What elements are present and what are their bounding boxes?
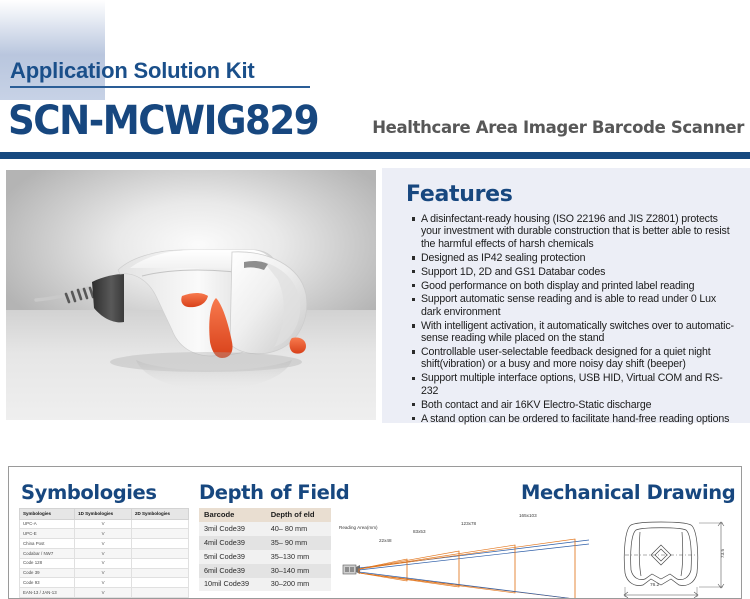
features-panel: Features A disinfectant-ready housing (I… <box>382 168 750 423</box>
barcode-depth: 35–130 mm <box>266 550 331 564</box>
product-image <box>6 170 376 420</box>
page-header: Application Solution Kit SCN-MCWIG829 He… <box>0 0 750 152</box>
symbologies-table: Symbologies 1D Symbologies 2D Symbologie… <box>19 508 189 599</box>
barcode-type: 10mil Code39 <box>199 578 266 592</box>
table-header-row: Symbologies 1D Symbologies 2D Symbologie… <box>20 509 189 520</box>
barcode-type: 4mil Code39 <box>199 536 266 550</box>
mechanical-drawing-figure: 76.2 73.5 <box>609 513 739 599</box>
reading-area-value: 22x48 <box>379 538 392 543</box>
symbology-name: EAN-13 / JAN-13 <box>20 588 75 598</box>
symbology-2d-mark <box>132 558 189 568</box>
table-row: Code 39 V <box>20 568 189 578</box>
table-row: UPC-E V <box>20 529 189 539</box>
symbology-1d-mark: V <box>75 588 132 598</box>
column-header: Depth of eld <box>266 508 331 522</box>
symbology-name: Code 39 <box>20 568 75 578</box>
product-model-title: SCN-MCWIG829 <box>8 98 318 144</box>
kicker-underline <box>10 86 310 88</box>
table-row: 3mil Code39 40– 80 mm <box>199 522 331 536</box>
column-header: 1D Symbologies <box>75 509 132 520</box>
mechanical-drawing-svg <box>609 513 739 599</box>
barcode-scanner-illustration <box>6 170 376 420</box>
barcode-depth: 30–200 mm <box>266 578 331 592</box>
barcode-depth: 30–140 mm <box>266 564 331 578</box>
feature-item: A disinfectant-ready housing (ISO 22196 … <box>412 213 738 250</box>
table-row: Code 128 V <box>20 558 189 568</box>
table-row: 4mil Code39 35– 90 mm <box>199 536 331 550</box>
scanner-origin-icon <box>343 565 360 574</box>
feature-item: A stand option can be ordered to facilit… <box>412 413 738 425</box>
symbology-1d-mark: V <box>75 548 132 558</box>
symbology-1d-mark: V <box>75 539 132 549</box>
barcode-type: 3mil Code39 <box>199 522 266 536</box>
barcode-type: 5mil Code39 <box>199 550 266 564</box>
symbology-1d-mark: V <box>75 529 132 539</box>
reading-area-value: 83x53 <box>413 529 426 534</box>
reading-area-diagram: Reading Area(mm) 22x48 83x53 123x78 165x… <box>339 529 609 599</box>
reading-area-caption: Reading Area(mm) <box>339 525 378 530</box>
symbology-1d-mark: V <box>75 519 132 529</box>
feature-item: Controllable user-selectable feedback de… <box>412 346 738 371</box>
feature-item: Good performance on both display and pri… <box>412 280 738 292</box>
dimension-width-label: 76.2 <box>650 583 659 588</box>
symbology-name: UPC-A <box>20 519 75 529</box>
barcode-depth: 35– 90 mm <box>266 536 331 550</box>
symbology-name: China Post <box>20 539 75 549</box>
reading-area-value: 123x78 <box>461 521 476 526</box>
column-header: Barcode <box>199 508 266 522</box>
symbology-1d-mark: V <box>75 578 132 588</box>
symbology-2d-mark <box>132 548 189 558</box>
symbology-1d-mark: V <box>75 568 132 578</box>
kicker-text: Application Solution Kit <box>10 58 255 87</box>
feature-item: With intelligent activation, it automati… <box>412 320 738 345</box>
symbology-name: UPC-E <box>20 529 75 539</box>
depth-of-field-table: Barcode Depth of eld 3mil Code39 40– 80 … <box>199 508 331 591</box>
mechanical-drawing-title: Mechanical Drawing <box>521 481 735 504</box>
product-tagline: Healthcare Area Imager Barcode Scanner <box>372 118 744 137</box>
table-header-row: Barcode Depth of eld <box>199 508 331 522</box>
table-row: China Post V <box>20 539 189 549</box>
specifications-panel: Symbologies Depth of Field Mechanical Dr… <box>8 466 742 599</box>
barcode-type: 6mil Code39 <box>199 564 266 578</box>
features-title: Features <box>382 168 750 213</box>
symbology-name: Code 128 <box>20 558 75 568</box>
table-row: Code 93 V <box>20 578 189 588</box>
feature-item: Support 1D, 2D and GS1 Databar codes <box>412 266 738 278</box>
depth-of-field-title: Depth of Field <box>199 481 349 504</box>
symbology-2d-mark <box>132 578 189 588</box>
feature-item: Designed as IP42 sealing protection <box>412 252 738 264</box>
symbology-2d-mark <box>132 568 189 578</box>
symbologies-title: Symbologies <box>21 481 157 504</box>
header-divider-bar <box>0 152 750 159</box>
symbology-2d-mark <box>132 529 189 539</box>
feature-item: Both contact and air 16KV Electro-Static… <box>412 399 738 411</box>
feature-item: Support multiple interface options, USB … <box>412 372 738 397</box>
symbology-2d-mark <box>132 539 189 549</box>
feature-item: Support automatic sense reading and is a… <box>412 293 738 318</box>
features-list: A disinfectant-ready housing (ISO 22196 … <box>382 213 750 425</box>
symbology-name: Codabar / NW7 <box>20 548 75 558</box>
column-header: Symbologies <box>20 509 75 520</box>
table-row: Codabar / NW7 V <box>20 548 189 558</box>
symbology-2d-mark <box>132 519 189 529</box>
column-header: 2D Symbologies <box>132 509 189 520</box>
symbology-2d-mark <box>132 588 189 598</box>
table-row: 10mil Code39 30–200 mm <box>199 578 331 592</box>
reading-area-value: 165x103 <box>519 513 537 518</box>
symbology-name: Code 93 <box>20 578 75 588</box>
table-row: UPC-A V <box>20 519 189 529</box>
table-row: EAN-13 / JAN-13 V <box>20 588 189 598</box>
symbology-1d-mark: V <box>75 558 132 568</box>
table-row: 5mil Code39 35–130 mm <box>199 550 331 564</box>
table-row: 6mil Code39 30–140 mm <box>199 564 331 578</box>
barcode-depth: 40– 80 mm <box>266 522 331 536</box>
dimension-height-label: 73.5 <box>721 549 726 558</box>
